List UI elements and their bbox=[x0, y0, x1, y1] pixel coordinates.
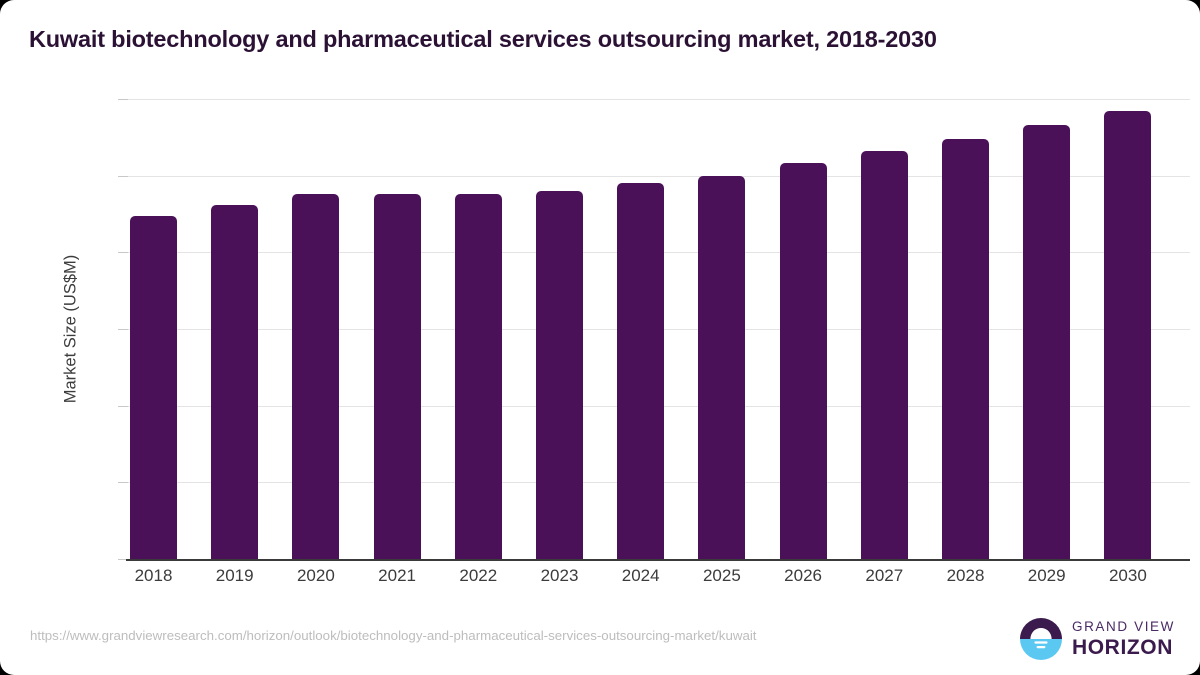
bar-group bbox=[292, 99, 339, 559]
bar-2019[interactable] bbox=[211, 205, 258, 559]
bar-2023[interactable] bbox=[536, 191, 583, 559]
x-tick-label: 2021 bbox=[352, 566, 442, 586]
x-axis-line bbox=[126, 559, 1190, 561]
plot-area: Market Size (US$M) 050100150200250300 bbox=[128, 99, 1190, 559]
x-tick-label: 2020 bbox=[271, 566, 361, 586]
horizon-logo-icon bbox=[1019, 617, 1063, 661]
x-tick-label: 2019 bbox=[190, 566, 280, 586]
y-tick-mark bbox=[118, 406, 128, 407]
logo-line-grand-view: GRAND VIEW bbox=[1072, 620, 1175, 634]
x-tick-label: 2024 bbox=[596, 566, 686, 586]
x-tick-label: 2027 bbox=[839, 566, 929, 586]
bar-2029[interactable] bbox=[1023, 125, 1070, 559]
bar-2026[interactable] bbox=[780, 163, 827, 559]
bar-group bbox=[374, 99, 421, 559]
x-tick-label: 2029 bbox=[1002, 566, 1092, 586]
x-tick-label: 2025 bbox=[677, 566, 767, 586]
bar-2022[interactable] bbox=[455, 194, 502, 559]
bar-group bbox=[455, 99, 502, 559]
x-tick-label: 2028 bbox=[921, 566, 1011, 586]
bar-2030[interactable] bbox=[1104, 111, 1151, 559]
bar-2020[interactable] bbox=[292, 194, 339, 559]
bar-2028[interactable] bbox=[942, 139, 989, 559]
bar-group bbox=[536, 99, 583, 559]
source-url-text: https://www.grandviewresearch.com/horizo… bbox=[30, 628, 757, 643]
bar-group bbox=[1023, 99, 1070, 559]
y-tick-mark bbox=[118, 482, 128, 483]
bar-2025[interactable] bbox=[698, 176, 745, 559]
x-tick-label: 2022 bbox=[433, 566, 523, 586]
bar-group bbox=[698, 99, 745, 559]
bar-2018[interactable] bbox=[130, 216, 177, 559]
page-title: Kuwait biotechnology and pharmaceutical … bbox=[29, 26, 937, 53]
logo-line-horizon: HORIZON bbox=[1072, 637, 1175, 658]
x-tick-label: 2030 bbox=[1083, 566, 1173, 586]
bar-2027[interactable] bbox=[861, 151, 908, 559]
x-tick-label: 2023 bbox=[515, 566, 605, 586]
bar-2021[interactable] bbox=[374, 194, 421, 559]
bar-group bbox=[861, 99, 908, 559]
y-tick-mark bbox=[118, 99, 128, 100]
brand-logo: GRAND VIEW HORIZON bbox=[1019, 617, 1175, 661]
bar-group bbox=[1104, 99, 1151, 559]
y-tick-mark bbox=[118, 176, 128, 177]
bar-group bbox=[942, 99, 989, 559]
bar-2024[interactable] bbox=[617, 183, 664, 559]
logo-wordmark: GRAND VIEW HORIZON bbox=[1072, 620, 1175, 658]
y-axis-title: Market Size (US$M) bbox=[62, 255, 81, 404]
chart-card: Kuwait biotechnology and pharmaceutical … bbox=[0, 0, 1200, 675]
y-tick-mark bbox=[118, 252, 128, 253]
x-tick-label: 2026 bbox=[758, 566, 848, 586]
x-tick-label: 2018 bbox=[109, 566, 199, 586]
bar-group bbox=[211, 99, 258, 559]
y-tick-mark bbox=[118, 329, 128, 330]
bar-group bbox=[780, 99, 827, 559]
bar-group bbox=[617, 99, 664, 559]
bar-group bbox=[130, 99, 177, 559]
